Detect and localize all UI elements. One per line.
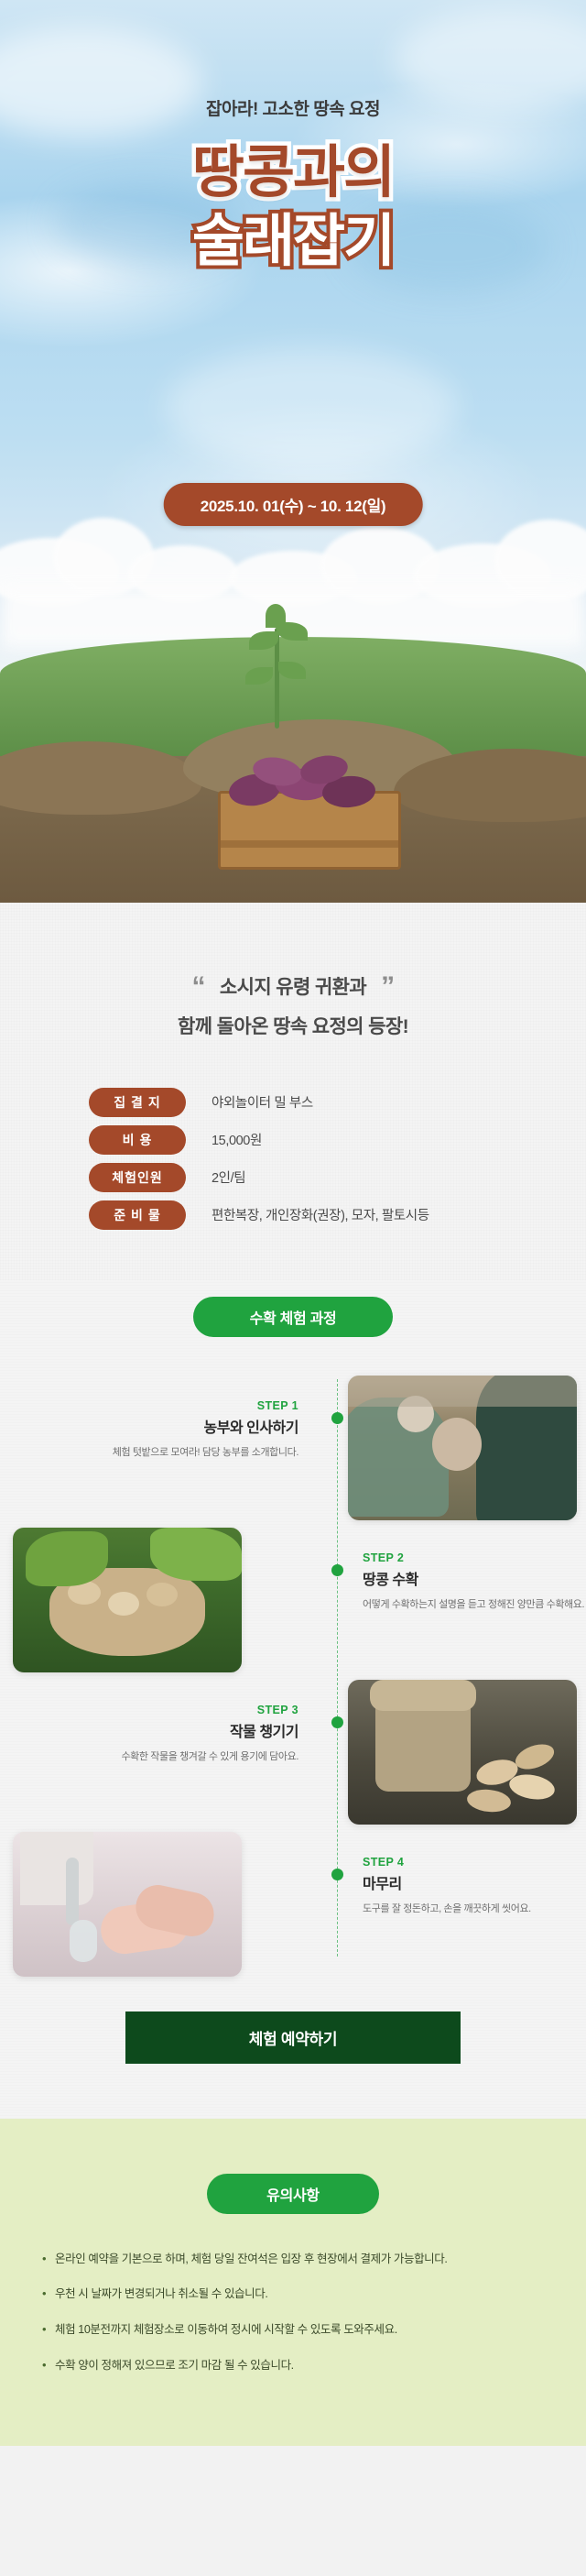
table-row: 체험인원 2인/팀 xyxy=(89,1163,497,1192)
detail-label-cost: 비 용 xyxy=(89,1125,186,1155)
hero-title-line1: 땅콩과의 xyxy=(0,145,586,202)
table-row: 집 결 지 야외놀이터 밀 부스 xyxy=(89,1088,497,1117)
process-section-title[interactable]: 수확 체험 과정 xyxy=(193,1297,393,1337)
timeline-dot-4 xyxy=(331,1869,343,1880)
table-row: 준 비 물 편한복장, 개인장화(권장), 모자, 팔토시등 xyxy=(89,1200,497,1230)
quote-text-1: 소시지 유령 귀환과 xyxy=(220,977,366,998)
process-step-2: STEP 2 땅콩 수확 어떻게 수확하는지 설명을 듣고 정해진 양만큼 수확… xyxy=(0,1524,586,1676)
hero-illustration xyxy=(0,518,586,903)
step-number-1: STEP 1 xyxy=(24,1399,298,1412)
step-photo-1 xyxy=(348,1376,577,1520)
step-photo-4 xyxy=(13,1832,242,1977)
promo-page: 잡아라! 고소한 땅속 요정 땅콩과의 술래잡기 2025.10. 01(수) … xyxy=(0,0,586,2446)
step-desc-1: 체험 텃밭으로 모여라! 담당 농부를 소개합니다. xyxy=(24,1445,298,1461)
timeline-dot-2 xyxy=(331,1564,343,1576)
notice-text-3: 체험 10분전까지 체험장소로 이동하여 정시에 시작할 수 있도록 도와주세요… xyxy=(55,2321,397,2339)
sky-wash-1 xyxy=(0,27,201,137)
reserve-experience-button[interactable]: 체험 예약하기 xyxy=(125,2011,461,2064)
table-row: 비 용 15,000원 xyxy=(89,1125,497,1155)
process-timeline: STEP 1 농부와 인사하기 체험 텃밭으로 모여라! 담당 농부를 소개합니… xyxy=(0,1372,586,1980)
hero-subtitle: 잡아라! 고소한 땅속 요정 xyxy=(0,95,586,120)
crate-slat xyxy=(218,840,401,848)
process-step-4: STEP 4 마무리 도구를 잘 정돈하고, 손을 깨끗하게 씻어요. xyxy=(0,1828,586,1980)
notice-text-1: 온라인 예약을 기본으로 하며, 체험 당일 잔여석은 입장 후 현장에서 결제… xyxy=(55,2251,447,2268)
detail-value-cost: 15,000원 xyxy=(186,1130,262,1149)
list-item: • 온라인 예약을 기본으로 하며, 체험 당일 잔여석은 입장 후 현장에서 … xyxy=(42,2251,544,2268)
timeline-dot-1 xyxy=(331,1412,343,1424)
process-step-3: STEP 3 작물 챙기기 수확한 작물을 챙겨갈 수 있게 용기에 담아요. xyxy=(0,1676,586,1828)
list-item: • 수확 양이 정해져 있으므로 조기 마감 될 수 있습니다. xyxy=(42,2357,544,2374)
detail-value-participants: 2인/팀 xyxy=(186,1167,245,1187)
step-number-3: STEP 3 xyxy=(24,1704,298,1716)
bullet-icon: • xyxy=(42,2357,55,2373)
step-desc-3: 수확한 작물을 챙겨갈 수 있게 용기에 담아요. xyxy=(24,1749,298,1765)
notice-list: • 온라인 예약을 기본으로 하며, 체험 당일 잔여석은 입장 후 현장에서 … xyxy=(42,2251,544,2374)
step-text-2: STEP 2 땅콩 수확 어떻게 수확하는지 설명을 듣고 정해진 양만큼 수확… xyxy=(363,1551,586,1613)
step-title-3: 작물 챙기기 xyxy=(24,1719,298,1741)
step-text-4: STEP 4 마무리 도구를 잘 정돈하고, 손을 깨끗하게 씻어요. xyxy=(363,1856,586,1917)
plant-top-leaf xyxy=(266,604,286,628)
process-section: 수확 체험 과정 STEP 1 농부와 인사하기 체험 텃밭으로 모여라! 담당… xyxy=(0,1280,586,2119)
step-text-3: STEP 3 작물 챙기기 수확한 작물을 챙겨갈 수 있게 용기에 담아요. xyxy=(24,1704,298,1765)
intro-details-section: “소시지 유령 귀환과” 함께 돌아온 땅속 요정의 등장! 집 결 지 야외놀… xyxy=(0,903,586,1280)
quote-line-1: “소시지 유령 귀환과” xyxy=(0,963,586,1011)
quote-line-2: 함께 돌아온 땅속 요정의 등장! xyxy=(0,1011,586,1044)
step-title-2: 땅콩 수확 xyxy=(363,1567,586,1589)
detail-value-items: 편한복장, 개인장화(권장), 모자, 팔토시등 xyxy=(186,1205,429,1224)
step-number-4: STEP 4 xyxy=(363,1856,586,1869)
detail-label-location: 집 결 지 xyxy=(89,1088,186,1117)
quote-open-icon: “ xyxy=(191,963,204,1011)
step-title-1: 농부와 인사하기 xyxy=(24,1415,298,1437)
process-step-1: STEP 1 농부와 인사하기 체험 텃밭으로 모여라! 담당 농부를 소개합니… xyxy=(0,1372,586,1524)
detail-label-participants: 체험인원 xyxy=(89,1163,186,1192)
hero-banner: 잡아라! 고소한 땅속 요정 땅콩과의 술래잡기 2025.10. 01(수) … xyxy=(0,0,586,903)
timeline-dot-3 xyxy=(331,1716,343,1728)
step-desc-4: 도구를 잘 정돈하고, 손을 깨끗하게 씻어요. xyxy=(363,1902,586,1917)
intro-quote: “소시지 유령 귀환과” 함께 돌아온 땅속 요정의 등장! xyxy=(0,963,586,1044)
notice-text-4: 수확 양이 정해져 있으므로 조기 마감 될 수 있습니다. xyxy=(55,2357,294,2374)
hero-title-line2: 술래잡기 xyxy=(0,214,586,270)
quote-close-icon: ” xyxy=(381,963,394,1011)
list-item: • 체험 10분전까지 체험장소로 이동하여 정시에 시작할 수 있도록 도와주… xyxy=(42,2321,544,2339)
step-number-2: STEP 2 xyxy=(363,1551,586,1564)
step-photo-3 xyxy=(348,1680,577,1825)
step-desc-2: 어떻게 수확하는지 설명을 듣고 정해진 양만큼 수확해요. xyxy=(363,1597,586,1613)
list-item: • 우천 시 날짜가 변경되거나 취소될 수 있습니다. xyxy=(42,2286,544,2303)
sky-wash-3 xyxy=(165,348,458,467)
notice-section-title[interactable]: 유의사항 xyxy=(207,2174,379,2214)
details-table: 집 결 지 야외놀이터 밀 부스 비 용 15,000원 체험인원 2인/팀 준… xyxy=(89,1088,497,1230)
step-photo-2 xyxy=(13,1528,242,1672)
notice-text-2: 우천 시 날짜가 변경되거나 취소될 수 있습니다. xyxy=(55,2286,267,2303)
step-text-1: STEP 1 농부와 인사하기 체험 텃밭으로 모여라! 담당 농부를 소개합니… xyxy=(24,1399,298,1461)
bullet-icon: • xyxy=(42,2251,55,2267)
step-title-4: 마무리 xyxy=(363,1871,586,1893)
bullet-icon: • xyxy=(42,2321,55,2338)
detail-value-location: 야외놀이터 밀 부스 xyxy=(186,1092,313,1112)
detail-label-items: 준 비 물 xyxy=(89,1200,186,1230)
notice-section: 유의사항 • 온라인 예약을 기본으로 하며, 체험 당일 잔여석은 입장 후 … xyxy=(0,2119,586,2446)
bullet-icon: • xyxy=(42,2286,55,2302)
